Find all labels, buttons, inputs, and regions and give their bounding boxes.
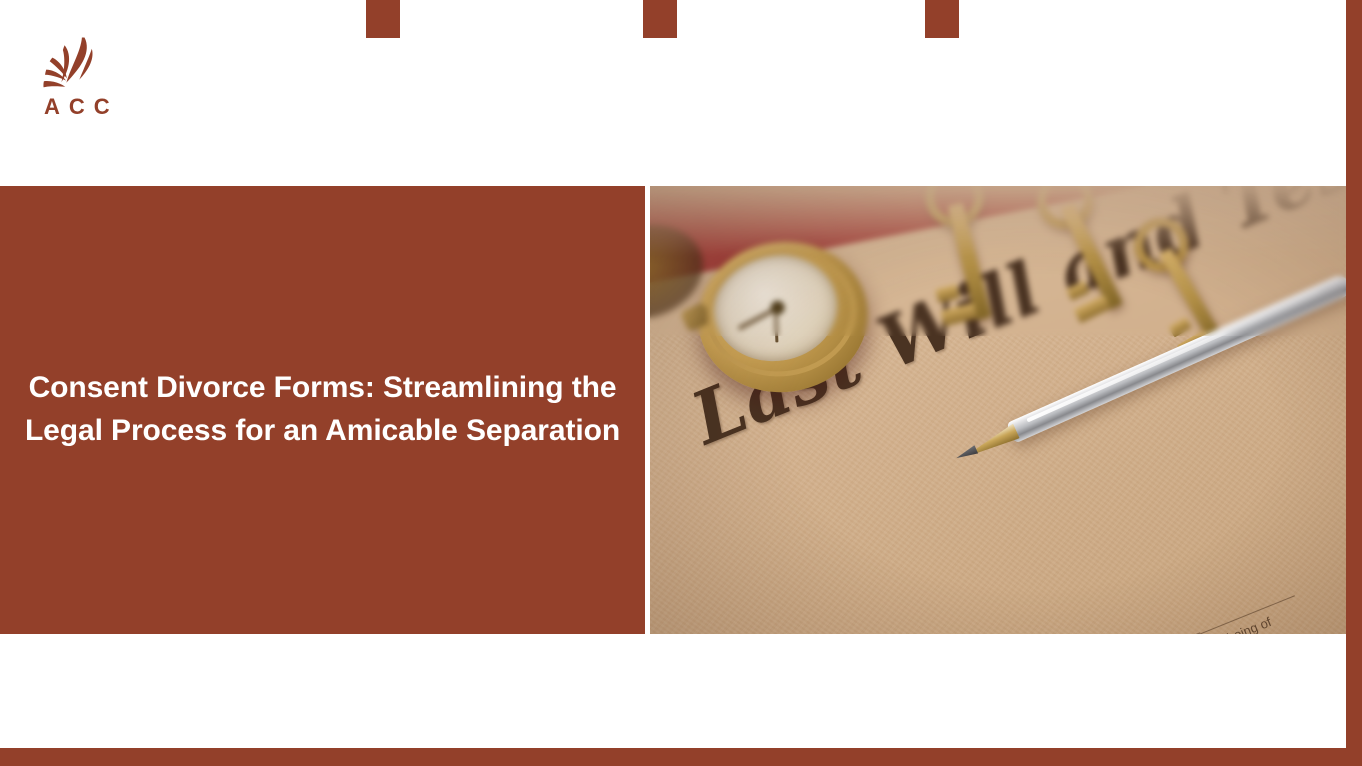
- decor-square-1: [366, 0, 400, 38]
- flame-leaf-icon: [40, 36, 110, 94]
- bottom-accent-bar: [0, 748, 1362, 766]
- brand-logo[interactable]: ACC: [40, 36, 120, 126]
- right-accent-bar: [1346, 0, 1362, 766]
- hero-image: Last Will and Testament (city), , an adu…: [650, 186, 1346, 634]
- page-canvas: ACC Consent Divorce Forms: Streamlining …: [0, 0, 1362, 766]
- pen-tip: [954, 445, 978, 462]
- page-title: Consent Divorce Forms: Streamlining the …: [2, 367, 643, 452]
- brand-name: ACC: [44, 96, 119, 118]
- hero-text-panel: Consent Divorce Forms: Streamlining the …: [0, 186, 645, 634]
- top-decoration-strip: [0, 0, 1346, 40]
- hero-banner: Consent Divorce Forms: Streamlining the …: [0, 186, 1346, 634]
- decor-square-2: [643, 0, 677, 38]
- decor-square-3: [925, 0, 959, 38]
